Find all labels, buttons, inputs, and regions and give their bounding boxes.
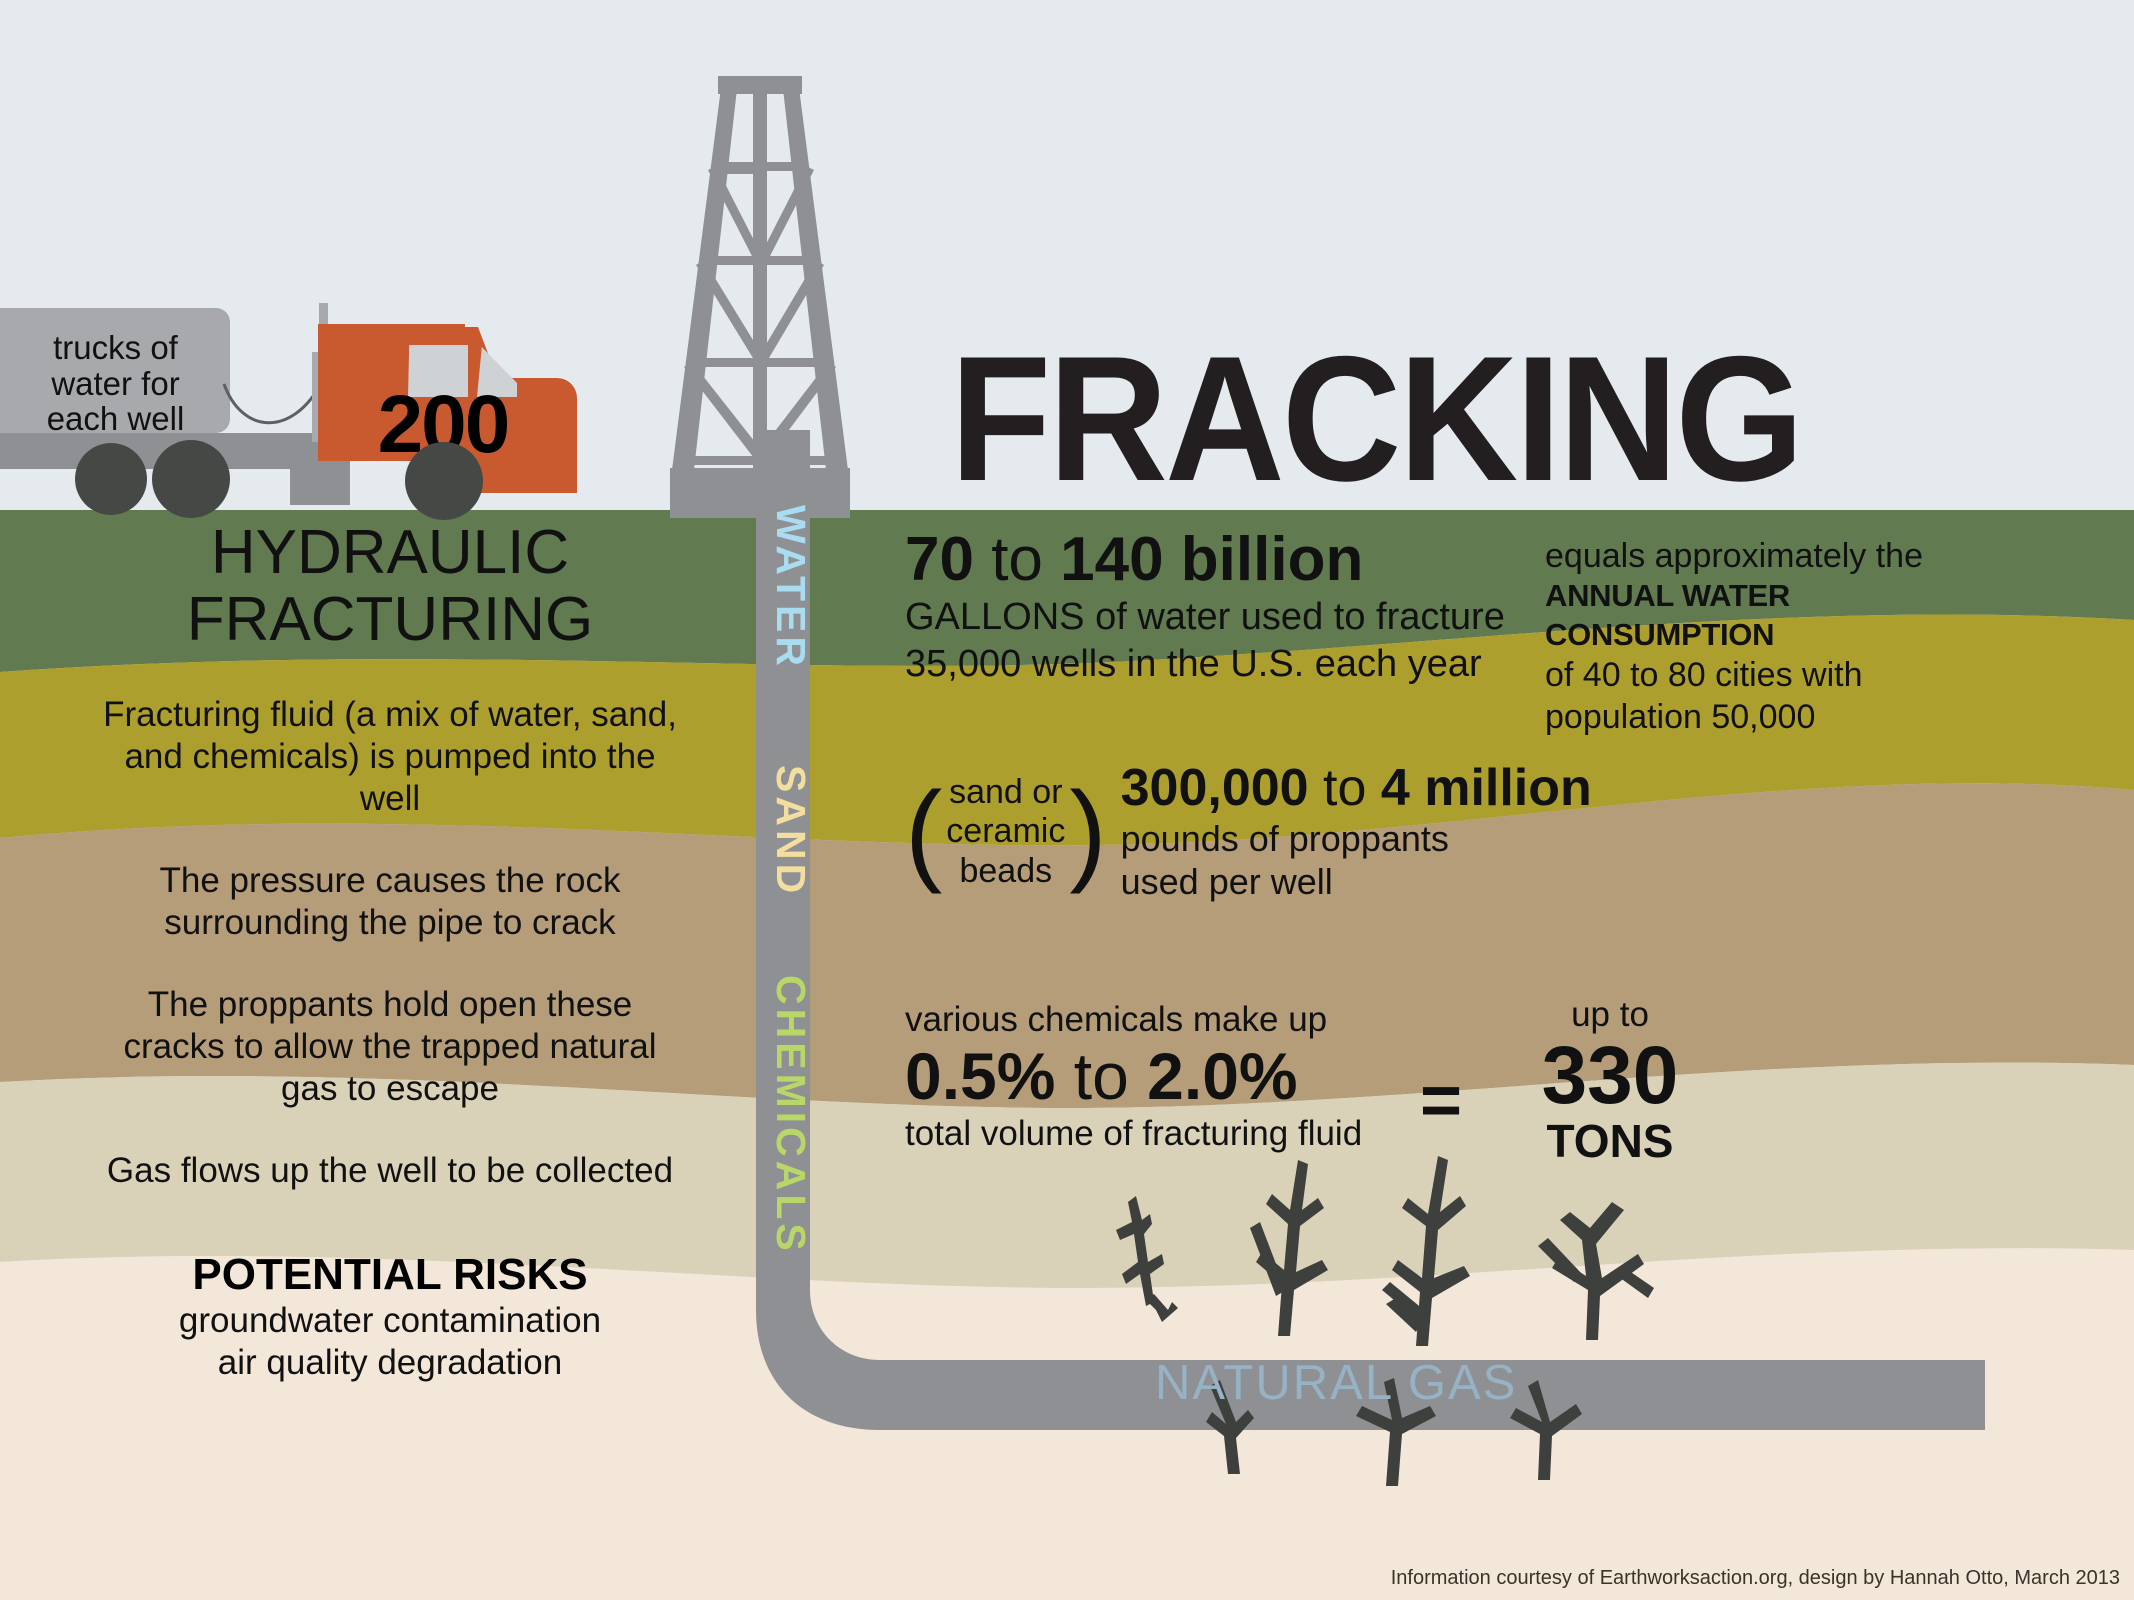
stat-value-low: 70 [905, 525, 974, 594]
comparison-line: equals approximately the [1545, 535, 2015, 577]
footer-credit: Information courtesy of Earthworksaction… [1391, 1567, 2120, 1590]
process-step: The proppants hold open these cracks to … [100, 984, 680, 1110]
comparison-line: of 40 to 80 cities with [1545, 654, 2015, 696]
tons-unit: TONS [1500, 1117, 1720, 1165]
pipe-label-chemicals: CHEMICALS [767, 975, 814, 1255]
percent-high: 2.0% [1147, 1039, 1297, 1113]
percent-low: 0.5% [905, 1039, 1055, 1113]
stat-water-comparison: equals approximately the ANNUAL WATER CO… [1545, 535, 2015, 738]
proppant-values: 300,000 to 4 million pounds of proppants… [1121, 760, 1592, 904]
fracking-infographic: trucks of water for each well 200 WATER … [0, 0, 2134, 1600]
process-step: Fracturing fluid (a mix of water, sand, … [100, 694, 680, 820]
stat-detail-line: pounds of proppants [1121, 817, 1592, 860]
truck-wheel [405, 442, 483, 520]
section-heading: HYDRAULIC FRACTURING [100, 520, 680, 654]
proppant-type-note: sand or ceramic beads [942, 773, 1069, 891]
stat-value-high: 4 million [1381, 759, 1592, 817]
stat-value-high: 140 billion [1060, 525, 1363, 594]
page-title: FRACKING [950, 330, 1801, 508]
pipe-label-water: WATER [767, 505, 814, 670]
stat-proppants: ( sand or ceramic beads ) 300,000 to 4 m… [905, 760, 1625, 904]
stat-value-low: 300,000 [1121, 759, 1309, 817]
stat-detail-line: GALLONS of water used to fracture [905, 594, 1525, 640]
comparison-emphasis: ANNUAL WATER CONSUMPTION [1545, 577, 2015, 654]
pipe-label-sand: SAND [767, 765, 814, 897]
truck-wheel [152, 440, 230, 518]
left-column: HYDRAULIC FRACTURING Fracturing fluid (a… [100, 520, 680, 1384]
risk-item: groundwater contamination [100, 1300, 680, 1342]
process-step: The pressure causes the rock surrounding… [100, 860, 680, 944]
stat-detail-line: 35,000 wells in the U.S. each year [905, 641, 1525, 687]
truck-tank-label: trucks of water for each well [8, 330, 223, 437]
truck-wheel [75, 443, 147, 515]
stat-water-volume: 70 to 140 billion GALLONS of water used … [905, 525, 1525, 687]
risks-heading: POTENTIAL RISKS [100, 1250, 680, 1300]
tons-number: 330 [1500, 1035, 1720, 1117]
stat-headline: 70 to 140 billion [905, 525, 1525, 594]
stat-range-word: to [974, 525, 1060, 594]
stat-tons: up to 330 TONS [1500, 995, 1720, 1165]
stat-range-word: to [1309, 759, 1381, 817]
pipe-label-natural-gas: NATURAL GAS [1155, 1355, 1517, 1411]
water-truck: trucks of water for each well 200 [0, 290, 560, 520]
stat-headline: 300,000 to 4 million [1121, 760, 1592, 817]
comparison-line: population 50,000 [1545, 696, 2015, 738]
tons-prefix: up to [1500, 995, 1720, 1035]
percent-range-word: to [1055, 1039, 1147, 1113]
paren-open: ( [905, 780, 942, 883]
truck-tank: trucks of water for each well [0, 308, 230, 433]
risk-item: air quality degradation [100, 1342, 680, 1384]
stat-detail-line: used per well [1121, 860, 1592, 903]
equals-sign: = [1420, 1060, 1462, 1142]
fracture-cracks-icon [1090, 1150, 1710, 1530]
process-step: Gas flows up the well to be collected [100, 1150, 680, 1192]
paren-close: ) [1069, 780, 1106, 883]
